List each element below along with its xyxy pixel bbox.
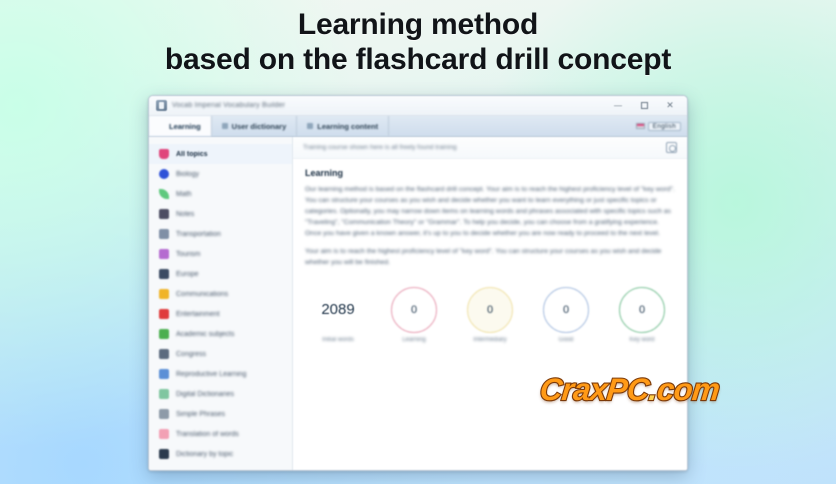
sidebar-item-notes[interactable]: Notes (149, 204, 292, 224)
temple-icon (159, 249, 169, 259)
note-icon (159, 409, 169, 419)
stat-value: 0 (411, 304, 417, 316)
promo-banner: Learning method based on the flashcard d… (0, 8, 836, 78)
stat-label: Learning (385, 337, 443, 343)
stat-value: 0 (487, 304, 493, 316)
sidebar-item-biology[interactable]: Biology (149, 164, 292, 184)
sidebar-item-tourism[interactable]: Tourism (149, 244, 292, 264)
language-value: English (648, 122, 681, 131)
sidebar-label: Congress (176, 351, 206, 358)
flag-icon (159, 209, 169, 219)
stat-value: 0 (563, 304, 569, 316)
language-selector[interactable]: English (630, 116, 687, 136)
tab-learning-content-icon (307, 123, 313, 129)
building-icon (159, 349, 169, 359)
sidebar-label: Communications (176, 291, 228, 298)
sidebar-item-simple-phrases[interactable]: Simple Phrases (149, 404, 292, 424)
notice-text: Training course shown here is all freely… (303, 144, 457, 151)
flag-icon (636, 123, 645, 129)
tab-user-dictionary[interactable]: User dictionary (212, 116, 298, 136)
leaf-icon (159, 189, 169, 199)
sidebar-label: Notes (176, 211, 194, 218)
film-icon (159, 309, 169, 319)
tab-bar: Learning User dictionary Learning conten… (149, 116, 687, 137)
content-inner: Learning Our learning method is based on… (293, 159, 687, 268)
sidebar-item-academic-subjects[interactable]: Academic subjects (149, 324, 292, 344)
sidebar-label: Digital Dictionaries (176, 391, 234, 398)
stat-value: 0 (639, 304, 645, 316)
stat-learning: 0 Learning (385, 287, 443, 343)
stat-key-word: 0 Key word (613, 287, 671, 343)
stat-label: Intermediary (461, 337, 519, 343)
sidebar-item-entertainment[interactable]: Entertainment (149, 304, 292, 324)
sidebar-label: Tourism (176, 251, 201, 258)
sidebar-item-math[interactable]: Math (149, 184, 292, 204)
sidebar-item-reproductive-learning[interactable]: Reproductive Learning (149, 364, 292, 384)
window-body: All topics Biology Math Notes Transporta… (149, 137, 687, 470)
content-heading: Learning (305, 168, 675, 178)
sidebar-item-translation-of-words[interactable]: Translation of words (149, 424, 292, 444)
stat-good: 0 Good (537, 287, 595, 343)
stat-label: Key word (613, 337, 671, 343)
sidebar-label: Translation of words (176, 431, 239, 438)
sidebar-item-dictionary-by-topic[interactable]: Dictionary by topic (149, 444, 292, 464)
sidebar-item-transportation[interactable]: Transportation (149, 224, 292, 244)
signal-icon (159, 289, 169, 299)
shield-icon (159, 149, 169, 159)
stat-initial-words: 2089 Initial words (309, 287, 367, 343)
banner-line-2: based on the flashcard drill concept (0, 43, 836, 78)
sidebar-label: All topics (176, 151, 208, 158)
notice-bar: Training course shown here is all freely… (293, 137, 687, 159)
euro-icon (159, 269, 169, 279)
window-title: Vocab Imperial Vocabulary Builder (172, 102, 285, 109)
tab-learning-content[interactable]: Learning content (297, 116, 389, 136)
window-titlebar[interactable]: Vocab Imperial Vocabulary Builder — ✕ (149, 96, 687, 116)
stat-label: Initial words (309, 337, 367, 343)
sidebar-item-europe[interactable]: Europe (149, 264, 292, 284)
sidebar-label: Academic subjects (176, 331, 234, 338)
stats-row: 2089 Initial words 0 Learning 0 Intermed… (293, 275, 687, 343)
train-icon (159, 229, 169, 239)
atom-icon (159, 169, 169, 179)
content-paragraph-2: Your aim is to reach the highest profici… (305, 246, 675, 268)
stat-value: 2089 (309, 287, 367, 333)
banner-line-1: Learning method (0, 8, 836, 43)
watermark-text-b: com (655, 372, 721, 407)
tab-learning[interactable]: Learning (149, 116, 212, 136)
sidebar-item-digital-dictionaries[interactable]: Digital Dictionaries (149, 384, 292, 404)
sidebar-item-communications[interactable]: Communications (149, 284, 292, 304)
window-controls: — ✕ (605, 96, 683, 115)
sidebar-label: Math (176, 191, 192, 198)
sidebar-label: Biology (176, 171, 199, 178)
sidebar-label: Transportation (176, 231, 221, 238)
tab-user-dictionary-label: User dictionary (232, 122, 287, 131)
close-button[interactable]: ✕ (657, 96, 683, 115)
sidebar[interactable]: All topics Biology Math Notes Transporta… (149, 137, 293, 470)
database-icon (159, 389, 169, 399)
stat-ring: 0 (391, 287, 437, 333)
content-paragraph-1: Our learning method is based on the flas… (305, 184, 675, 239)
list-icon (159, 449, 169, 459)
book-icon (159, 369, 169, 379)
book-circle-icon[interactable] (666, 142, 677, 153)
sidebar-item-congress[interactable]: Congress (149, 344, 292, 364)
minimize-button[interactable]: — (605, 96, 631, 115)
tab-learning-label: Learning (169, 122, 201, 131)
tab-user-dictionary-icon (222, 123, 228, 129)
tab-learning-icon (159, 123, 165, 129)
sidebar-label: Reproductive Learning (176, 371, 246, 378)
stat-label: Good (537, 337, 595, 343)
sidebar-label: Dictionary by topic (176, 451, 233, 458)
stat-intermediary: 0 Intermediary (461, 287, 519, 343)
translate-icon (159, 429, 169, 439)
watermark-logo: CraxPC.com (538, 372, 721, 408)
stat-ring: 0 (619, 287, 665, 333)
stat-ring: 0 (467, 287, 513, 333)
chart-icon (159, 329, 169, 339)
watermark-text-a: CraxPC (538, 372, 651, 407)
sidebar-item-all-topics[interactable]: All topics (149, 144, 292, 164)
stat-ring: 0 (543, 287, 589, 333)
sidebar-label: Simple Phrases (176, 411, 225, 418)
sidebar-label: Europe (176, 271, 199, 278)
content-panel: Training course shown here is all freely… (293, 137, 687, 470)
sidebar-label: Entertainment (176, 311, 220, 318)
maximize-button[interactable] (631, 96, 657, 115)
app-logo-icon (156, 100, 167, 111)
app-window: Vocab Imperial Vocabulary Builder — ✕ Le… (148, 95, 688, 471)
tab-learning-content-label: Learning content (317, 122, 378, 131)
